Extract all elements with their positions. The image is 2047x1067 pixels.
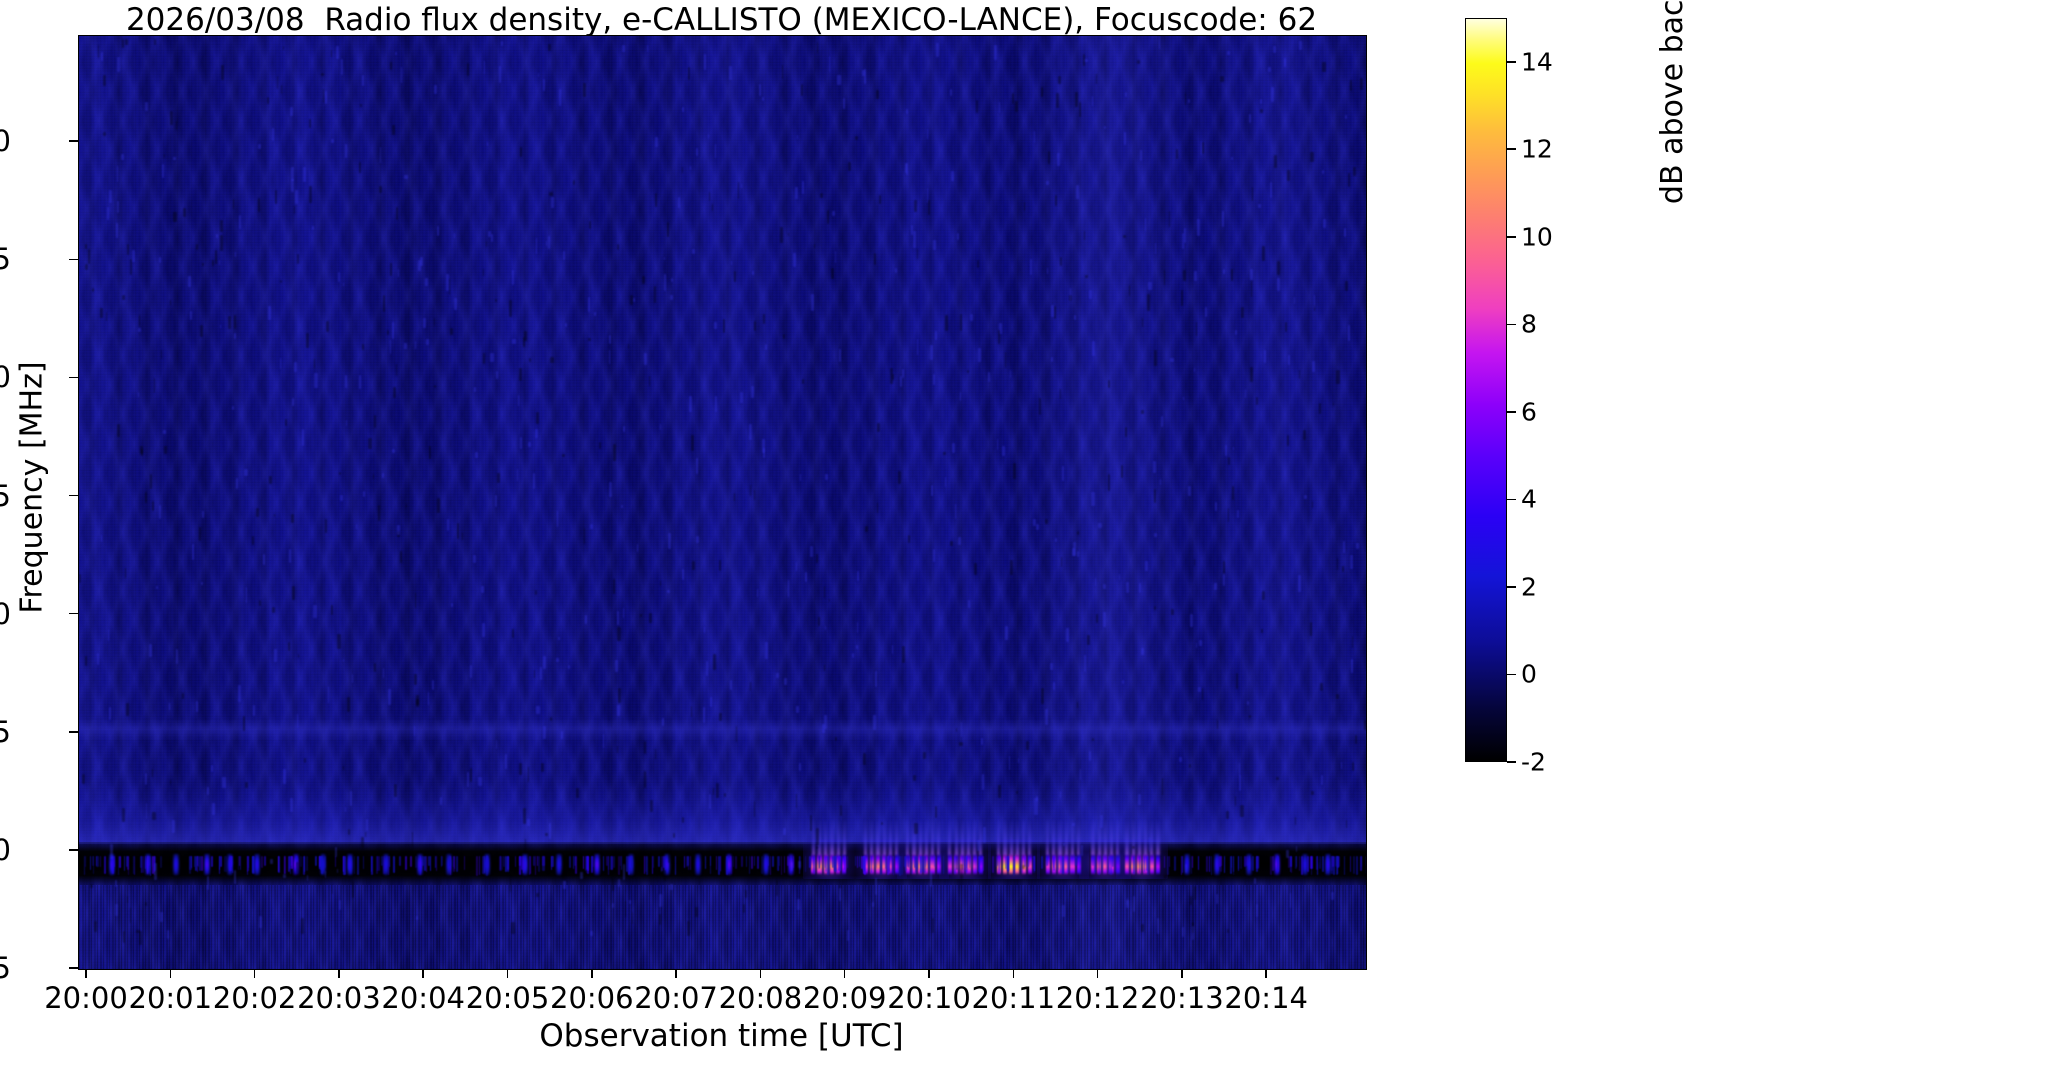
colorbar-tick-mark <box>1507 499 1516 501</box>
noise-speckle <box>236 478 238 490</box>
burst-streak <box>1104 819 1107 855</box>
noise-speckle <box>156 586 158 590</box>
band-texture-spike <box>613 856 615 869</box>
noise-speckle <box>536 238 537 254</box>
noise-speckle <box>1331 892 1334 900</box>
noise-speckle <box>258 144 261 149</box>
band-texture-spike <box>430 856 431 872</box>
noise-speckle <box>715 396 717 412</box>
noise-speckle <box>1010 560 1013 576</box>
isolated-burst <box>594 854 600 875</box>
noise-speckle <box>957 233 959 239</box>
noise-speckle <box>811 294 814 311</box>
noise-speckle <box>802 181 804 194</box>
noise-speckle <box>1228 457 1230 465</box>
noise-speckle <box>535 429 538 438</box>
colorbar-tick-mark <box>1507 148 1516 150</box>
band-texture-spike <box>264 856 265 867</box>
noise-speckle <box>188 276 191 287</box>
noise-speckle <box>1084 231 1085 241</box>
noise-speckle <box>291 167 294 181</box>
noise-speckle <box>101 535 102 543</box>
band-texture-spike <box>838 856 840 871</box>
noise-speckle <box>704 54 707 70</box>
band-texture-spike <box>844 856 846 870</box>
noise-speckle <box>1161 416 1163 427</box>
noise-speckle <box>338 272 340 282</box>
noise-speckle <box>107 207 109 220</box>
colorbar-tick-mark <box>1507 761 1516 763</box>
noise-speckle <box>103 132 106 136</box>
burst-streak <box>830 819 833 855</box>
band-texture-spike <box>778 856 779 871</box>
noise-speckle <box>999 102 1001 113</box>
noise-speckle <box>864 69 867 85</box>
noise-speckle <box>259 916 262 928</box>
noise-speckle <box>416 916 418 921</box>
isolated-burst <box>173 854 179 875</box>
noise-speckle <box>736 726 737 742</box>
noise-speckle <box>780 227 783 243</box>
noise-speckle <box>207 787 209 795</box>
x-tick-mark <box>422 969 424 978</box>
noise-speckle <box>1220 76 1223 82</box>
noise-speckle <box>692 561 695 570</box>
noise-speckle <box>337 634 340 648</box>
band-texture-spike <box>456 856 458 873</box>
noise-speckle <box>200 325 203 336</box>
noise-speckle <box>1271 87 1274 102</box>
noise-speckle <box>154 863 157 880</box>
noise-speckle <box>914 200 917 213</box>
noise-speckle <box>449 279 450 294</box>
noise-speckle <box>642 276 645 284</box>
band-texture-spike <box>1057 856 1059 870</box>
noise-speckle <box>533 473 535 489</box>
noise-speckle <box>655 137 658 147</box>
noise-speckle <box>1286 850 1289 858</box>
band-texture-spike <box>1053 856 1055 871</box>
noise-speckle <box>1320 683 1323 691</box>
noise-speckle <box>1124 132 1126 145</box>
noise-speckle <box>173 212 177 222</box>
noise-speckle <box>202 263 204 266</box>
burst-streak <box>931 819 934 855</box>
noise-speckle <box>1060 257 1063 267</box>
noise-speckle <box>1236 673 1238 689</box>
noise-speckle <box>288 642 291 651</box>
band-texture-spike <box>1146 856 1148 871</box>
noise-speckle <box>337 869 339 873</box>
band-texture-spike <box>1098 856 1099 876</box>
noise-speckle <box>108 629 110 641</box>
noise-speckle <box>1261 629 1263 633</box>
noise-speckle <box>1125 427 1127 438</box>
noise-speckle <box>852 653 854 658</box>
band-texture-spike <box>781 856 782 875</box>
noise-speckle <box>1085 275 1088 278</box>
noise-speckle <box>689 396 691 412</box>
noise-speckle <box>115 880 117 888</box>
band-texture-spike <box>658 856 660 868</box>
burst-streak <box>948 819 951 855</box>
band-texture-spike <box>956 856 958 870</box>
band-texture-spike <box>1238 856 1239 871</box>
band-texture-spike <box>720 856 721 872</box>
burst-streak <box>1144 819 1147 855</box>
band-texture-spike <box>1115 856 1116 872</box>
noise-speckle <box>1312 361 1315 372</box>
noise-speckle <box>1039 398 1041 415</box>
noise-speckle <box>1346 820 1347 828</box>
noise-speckle <box>549 192 553 197</box>
noise-speckle <box>1160 479 1162 485</box>
noise-speckle <box>951 171 954 181</box>
noise-speckle <box>713 788 714 795</box>
burst-streak <box>1010 819 1013 855</box>
band-texture-spike <box>1336 856 1338 875</box>
noise-speckle <box>1024 202 1026 211</box>
x-tick-mark <box>675 969 677 978</box>
noise-speckle <box>518 395 520 406</box>
noise-speckle <box>1182 927 1184 937</box>
noise-speckle <box>475 452 478 458</box>
noise-speckle <box>923 752 926 759</box>
noise-speckle <box>848 162 851 170</box>
noise-speckle <box>1182 233 1183 249</box>
band-texture-spike <box>1350 856 1351 873</box>
noise-speckle <box>1251 281 1253 297</box>
noise-speckle <box>275 190 277 204</box>
noise-speckle <box>170 300 172 305</box>
band-texture-spike <box>922 856 924 873</box>
noise-speckle <box>512 270 514 285</box>
noise-speckle <box>536 893 539 898</box>
noise-speckle <box>270 859 273 863</box>
noise-speckle <box>776 880 778 896</box>
band-texture-spike <box>436 856 437 871</box>
band-texture-spike <box>1182 856 1183 873</box>
noise-speckle <box>1140 150 1142 161</box>
noise-speckle <box>1054 306 1056 320</box>
noise-speckle <box>664 274 666 291</box>
noise-speckle <box>313 605 316 618</box>
noise-speckle <box>1355 735 1357 744</box>
noise-speckle <box>454 233 455 238</box>
noise-speckle <box>655 749 656 760</box>
noise-speckle <box>927 129 929 139</box>
noise-speckle <box>550 357 553 363</box>
band-texture-spike <box>887 856 889 876</box>
noise-speckle <box>1084 655 1086 672</box>
noise-speckle <box>363 491 365 497</box>
noise-speckle <box>232 406 235 410</box>
noise-speckle <box>256 508 258 517</box>
band-texture-spike <box>1307 856 1309 873</box>
noise-speckle <box>1096 614 1099 623</box>
noise-speckle <box>380 147 382 163</box>
noise-speckle <box>655 193 658 207</box>
noise-speckle <box>1126 900 1129 908</box>
x-tick-label: 20:08 <box>719 981 803 1015</box>
noise-speckle <box>360 104 362 107</box>
noise-speckle <box>719 713 722 721</box>
band-texture-spike <box>969 856 971 868</box>
noise-speckle <box>630 295 633 305</box>
colorbar-tick-label: 10 <box>1521 222 1553 251</box>
noise-speckle <box>712 204 713 211</box>
noise-speckle <box>1066 628 1069 642</box>
noise-speckle <box>558 637 560 641</box>
noise-speckle <box>1194 886 1197 900</box>
noise-speckle <box>345 375 347 388</box>
noise-speckle <box>145 492 147 503</box>
noise-speckle <box>1201 141 1202 155</box>
noise-speckle <box>633 298 636 302</box>
noise-speckle <box>654 286 656 302</box>
noise-speckle <box>763 314 765 325</box>
noise-speckle <box>1073 542 1076 557</box>
band-texture-spike <box>730 856 732 868</box>
noise-speckle <box>524 331 527 341</box>
band-texture-spike <box>735 856 737 869</box>
x-tick-mark <box>760 969 762 978</box>
noise-speckle <box>274 514 275 518</box>
noise-speckle <box>1074 315 1076 320</box>
noise-speckle <box>325 871 327 878</box>
noise-speckle <box>426 339 429 345</box>
noise-speckle <box>1016 791 1018 794</box>
band-texture-spike <box>871 856 872 873</box>
noise-speckle <box>145 102 148 112</box>
burst-streak <box>1022 819 1025 855</box>
band-texture-spike <box>1133 856 1135 875</box>
band-texture-spike <box>819 856 820 869</box>
noise-speckle <box>528 767 529 783</box>
noise-speckle <box>640 614 642 618</box>
noise-speckle <box>297 714 298 728</box>
noise-speckle <box>1342 566 1345 572</box>
band-texture-spike <box>618 856 619 875</box>
noise-speckle <box>496 740 498 749</box>
noise-speckle <box>879 195 881 204</box>
noise-speckle <box>1336 694 1338 700</box>
band-texture-spike <box>248 856 249 869</box>
noise-speckle <box>388 689 391 705</box>
band-texture-spike <box>1013 856 1015 876</box>
y-tick-mark <box>69 495 78 497</box>
band-texture-spike <box>809 856 810 868</box>
noise-speckle <box>85 264 88 270</box>
noise-speckle <box>754 490 756 500</box>
noise-speckle <box>754 321 755 332</box>
noise-speckle <box>196 701 198 712</box>
noise-speckle <box>416 695 419 705</box>
y-tick-mark <box>69 140 78 142</box>
noise-speckle <box>719 560 722 571</box>
x-tick-mark <box>254 969 256 978</box>
noise-speckle <box>977 840 980 851</box>
noise-speckle <box>615 660 618 672</box>
band-texture-spike <box>1144 856 1145 873</box>
noise-speckle <box>109 707 112 721</box>
noise-speckle <box>856 645 858 649</box>
noise-speckle <box>1205 307 1207 317</box>
burst-streak <box>955 819 958 855</box>
noise-speckle <box>132 250 135 263</box>
band-texture-spike <box>189 856 191 874</box>
noise-speckle <box>622 45 624 52</box>
noise-speckle <box>982 774 984 789</box>
band-texture-spike <box>934 856 936 868</box>
noise-speckle <box>668 533 671 549</box>
noise-speckle <box>762 97 764 101</box>
noise-speckle <box>678 197 680 208</box>
noise-speckle <box>548 44 551 51</box>
burst-streak <box>1046 819 1049 855</box>
noise-speckle <box>1303 430 1306 440</box>
band-texture-spike <box>1252 856 1253 871</box>
noise-speckle <box>1319 403 1321 414</box>
noise-speckle <box>703 707 705 723</box>
noise-speckle <box>1323 219 1326 228</box>
noise-speckle <box>115 904 118 916</box>
noise-speckle <box>1154 533 1157 537</box>
band-texture-spike <box>160 856 162 868</box>
noise-speckle <box>549 823 552 839</box>
noise-speckle <box>743 904 745 912</box>
x-tick-mark <box>85 969 87 978</box>
band-texture-spike <box>1272 856 1274 872</box>
noise-speckle <box>897 310 899 313</box>
noise-speckle <box>1133 896 1135 912</box>
noise-speckle <box>1188 486 1191 496</box>
burst-streak <box>1065 819 1068 855</box>
noise-speckle <box>253 705 255 715</box>
noise-speckle <box>491 234 493 241</box>
x-tick-label: 20:10 <box>887 981 971 1015</box>
noise-speckle <box>1060 791 1061 798</box>
noise-speckle <box>1108 474 1110 491</box>
noise-speckle <box>1077 702 1078 708</box>
noise-speckle <box>117 201 120 213</box>
noise-speckle <box>352 881 355 898</box>
burst-streak <box>864 819 867 855</box>
noise-speckle <box>1299 370 1300 379</box>
noise-speckle <box>1121 465 1123 478</box>
noise-speckle <box>932 918 934 933</box>
burst-streak <box>1016 819 1019 855</box>
band-texture-spike <box>1067 856 1069 874</box>
noise-speckle <box>1070 288 1071 301</box>
band-texture-spike <box>252 856 254 874</box>
noise-speckle <box>690 166 692 170</box>
noise-speckle <box>395 52 397 55</box>
noise-speckle <box>958 537 961 545</box>
noise-speckle <box>590 931 593 937</box>
noise-speckle <box>799 763 801 771</box>
noise-speckle <box>970 314 973 321</box>
noise-speckle <box>106 312 107 321</box>
noise-speckle <box>540 667 542 680</box>
noise-speckle <box>950 541 953 546</box>
noise-speckle <box>490 353 494 362</box>
noise-speckle <box>825 474 828 480</box>
noise-speckle <box>776 673 778 679</box>
noise-speckle <box>917 249 918 259</box>
noise-speckle <box>1164 270 1165 285</box>
noise-speckle <box>1185 93 1186 106</box>
noise-speckle <box>545 833 548 836</box>
noise-speckle <box>173 157 176 160</box>
colorbar[interactable]: 14121086420-2 <box>1465 18 1507 762</box>
noise-speckle <box>618 688 621 703</box>
noise-speckle <box>839 349 841 362</box>
band-texture-spike <box>787 856 789 866</box>
noise-speckle <box>496 371 499 380</box>
noise-speckle <box>590 524 593 529</box>
noise-speckle <box>644 771 647 787</box>
band-texture-spike <box>824 856 826 869</box>
noise-speckle <box>359 375 361 390</box>
noise-speckle <box>1030 259 1032 275</box>
noise-speckle <box>1321 775 1324 785</box>
noise-speckle <box>1046 181 1049 186</box>
noise-speckle <box>1270 182 1272 198</box>
noise-speckle <box>536 412 539 424</box>
noise-speckle <box>212 803 215 815</box>
band-texture-spike <box>415 856 417 868</box>
burst-spike <box>1015 853 1019 875</box>
noise-speckle <box>1015 101 1018 112</box>
noise-speckle <box>154 378 156 394</box>
noise-speckle <box>933 374 935 385</box>
noise-speckle <box>141 449 143 456</box>
noise-speckle <box>1295 817 1297 826</box>
y-tick-mark <box>69 613 78 615</box>
noise-speckle <box>150 474 152 489</box>
noise-speckle <box>1185 864 1187 873</box>
noise-speckle <box>865 526 868 532</box>
burst-streak <box>1091 819 1094 855</box>
noise-speckle <box>1145 561 1148 571</box>
burst-streak <box>824 819 827 855</box>
band-texture-spike <box>573 856 574 870</box>
noise-speckle <box>199 527 201 541</box>
spectrogram-plot-area[interactable] <box>78 35 1367 970</box>
noise-speckle <box>434 318 435 327</box>
noise-speckle <box>1312 501 1314 508</box>
band-texture-spike <box>505 856 506 872</box>
band-texture-spike <box>90 856 91 871</box>
noise-speckle <box>1202 688 1203 701</box>
noise-speckle <box>816 554 818 563</box>
noise-speckle <box>127 244 129 255</box>
burst-streak <box>1003 819 1006 855</box>
isolated-burst <box>695 854 701 875</box>
noise-speckle <box>584 528 586 544</box>
noise-speckle <box>359 162 362 174</box>
band-texture-spike <box>378 856 380 871</box>
band-texture-spike <box>306 856 308 872</box>
noise-speckle <box>423 318 426 328</box>
noise-speckle <box>967 370 970 373</box>
noise-speckle <box>816 828 819 845</box>
noise-speckle <box>348 829 350 835</box>
noise-speckle <box>159 505 161 519</box>
band-texture-spike <box>1169 856 1170 867</box>
noise-speckle <box>1353 167 1356 176</box>
